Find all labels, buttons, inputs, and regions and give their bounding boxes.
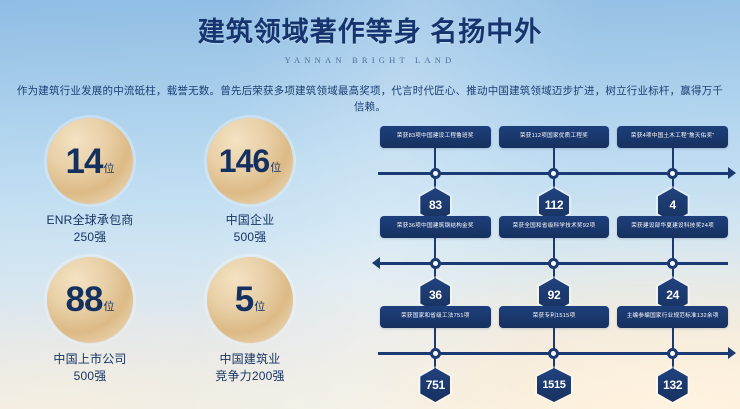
timeline-item[interactable]: 荣获专利1515项1515: [495, 306, 614, 390]
stat-unit: 位: [103, 298, 114, 314]
stat-badge-inner: 88位: [66, 282, 115, 317]
stat-number: 88: [66, 282, 103, 317]
timeline-item[interactable]: 荣获全国和省级科学技术奖92项92: [495, 216, 614, 306]
stat-badge-inner: 5位: [235, 282, 265, 317]
timeline-item[interactable]: 荣获4项中国土木工程“詹天佑奖”4: [613, 126, 732, 216]
stat-label: ENR全球承包商250强: [10, 212, 170, 247]
stat-badge-circle: 5位: [207, 257, 293, 343]
timeline-row: 荣获36项中国建筑钢结构金奖36荣获全国和省级科学技术奖92项92荣获建设部华夏…: [376, 216, 732, 306]
timeline-item[interactable]: 荣获国家和省级工法751项751: [376, 306, 495, 390]
stat-label-line1: 中国上市公司: [10, 351, 170, 368]
timeline-items: 荣获国家和省级工法751项751荣获专利1515项1515主编参编国家行业规范标…: [376, 306, 732, 390]
stat-label: 中国企业500强: [170, 212, 330, 247]
stat-card: 88位中国上市公司500强: [10, 257, 170, 386]
header: 建筑领域著作等身 名扬中外 YANNAN BRIGHT LAND: [0, 16, 740, 65]
stat-card: 5位中国建筑业竞争力200强: [170, 257, 330, 386]
timeline-card-label[interactable]: 荣获36项中国建筑钢结构金奖: [380, 216, 491, 238]
stat-number: 5: [235, 282, 253, 317]
stat-unit: 位: [270, 159, 281, 175]
timeline-card-label[interactable]: 荣获建设部华夏建设科技奖24项: [617, 216, 728, 238]
timeline-item[interactable]: 荣获83项中国建设工程鲁班奖83: [376, 126, 495, 216]
timeline-items: 荣获83项中国建设工程鲁班奖83荣获112项国家优质工程奖112荣获4项中国土木…: [376, 126, 732, 216]
stat-unit: 位: [254, 298, 265, 314]
stat-number: 14: [66, 144, 103, 179]
intro-paragraph: 作为建筑行业发展的中流砥柱，载誉无数。曾先后荣获多项建筑领域最高奖项，代言时代匠…: [0, 84, 740, 116]
stat-label-line1: 中国建筑业: [170, 351, 330, 368]
timeline-card-label[interactable]: 主编参编国家行业规范标准132余项: [617, 306, 728, 328]
timeline-card-label[interactable]: 荣获全国和省级科学技术奖92项: [499, 216, 610, 238]
stat-number: 146: [219, 145, 269, 177]
stat-badge-circle: 88位: [47, 257, 133, 343]
stat-label: 中国建筑业竞争力200强: [170, 351, 330, 386]
timeline-item[interactable]: 荣获建设部华夏建设科技奖24项24: [613, 216, 732, 306]
page-root: 建筑领域著作等身 名扬中外 YANNAN BRIGHT LAND 作为建筑行业发…: [0, 0, 740, 409]
stats-grid: 14位ENR全球承包商250强146位中国企业500强88位中国上市公司500强…: [10, 118, 330, 386]
stat-label-line2: 500强: [10, 368, 170, 385]
page-subtitle: YANNAN BRIGHT LAND: [0, 55, 740, 65]
timeline-card-label[interactable]: 荣获83项中国建设工程鲁班奖: [380, 126, 491, 148]
timeline-card-label[interactable]: 荣获112项国家优质工程奖: [499, 126, 610, 148]
stat-unit: 位: [103, 160, 114, 176]
stat-label-line2: 竞争力200强: [170, 368, 330, 385]
stat-card: 146位中国企业500强: [170, 118, 330, 247]
timeline-row: 荣获83项中国建设工程鲁班奖83荣获112项国家优质工程奖112荣获4项中国土木…: [376, 126, 732, 216]
timeline-item[interactable]: 荣获36项中国建筑钢结构金奖36: [376, 216, 495, 306]
page-title: 建筑领域著作等身 名扬中外: [0, 16, 740, 50]
timeline-row: 荣获国家和省级工法751项751荣获专利1515项1515主编参编国家行业规范标…: [376, 306, 732, 390]
stat-badge-circle: 146位: [207, 118, 293, 204]
stat-label-line2: 500强: [170, 229, 330, 246]
stat-badge-inner: 146位: [219, 145, 281, 177]
timeline-card-label[interactable]: 荣获国家和省级工法751项: [380, 306, 491, 328]
timeline-items: 荣获36项中国建筑钢结构金奖36荣获全国和省级科学技术奖92项92荣获建设部华夏…: [376, 216, 732, 306]
stat-label: 中国上市公司500强: [10, 351, 170, 386]
stat-card: 14位ENR全球承包商250强: [10, 118, 170, 247]
achievements-timeline: 荣获83项中国建设工程鲁班奖83荣获112项国家优质工程奖112荣获4项中国土木…: [376, 126, 732, 390]
stat-label-line1: ENR全球承包商: [10, 212, 170, 229]
stat-badge-inner: 14位: [66, 144, 115, 179]
stat-badge-circle: 14位: [47, 118, 133, 204]
stat-label-line2: 250强: [10, 229, 170, 246]
timeline-card-label[interactable]: 荣获4项中国土木工程“詹天佑奖”: [617, 126, 728, 148]
timeline-item[interactable]: 荣获112项国家优质工程奖112: [495, 126, 614, 216]
timeline-card-label[interactable]: 荣获专利1515项: [499, 306, 610, 328]
timeline-item[interactable]: 主编参编国家行业规范标准132余项132: [613, 306, 732, 390]
stat-label-line1: 中国企业: [170, 212, 330, 229]
